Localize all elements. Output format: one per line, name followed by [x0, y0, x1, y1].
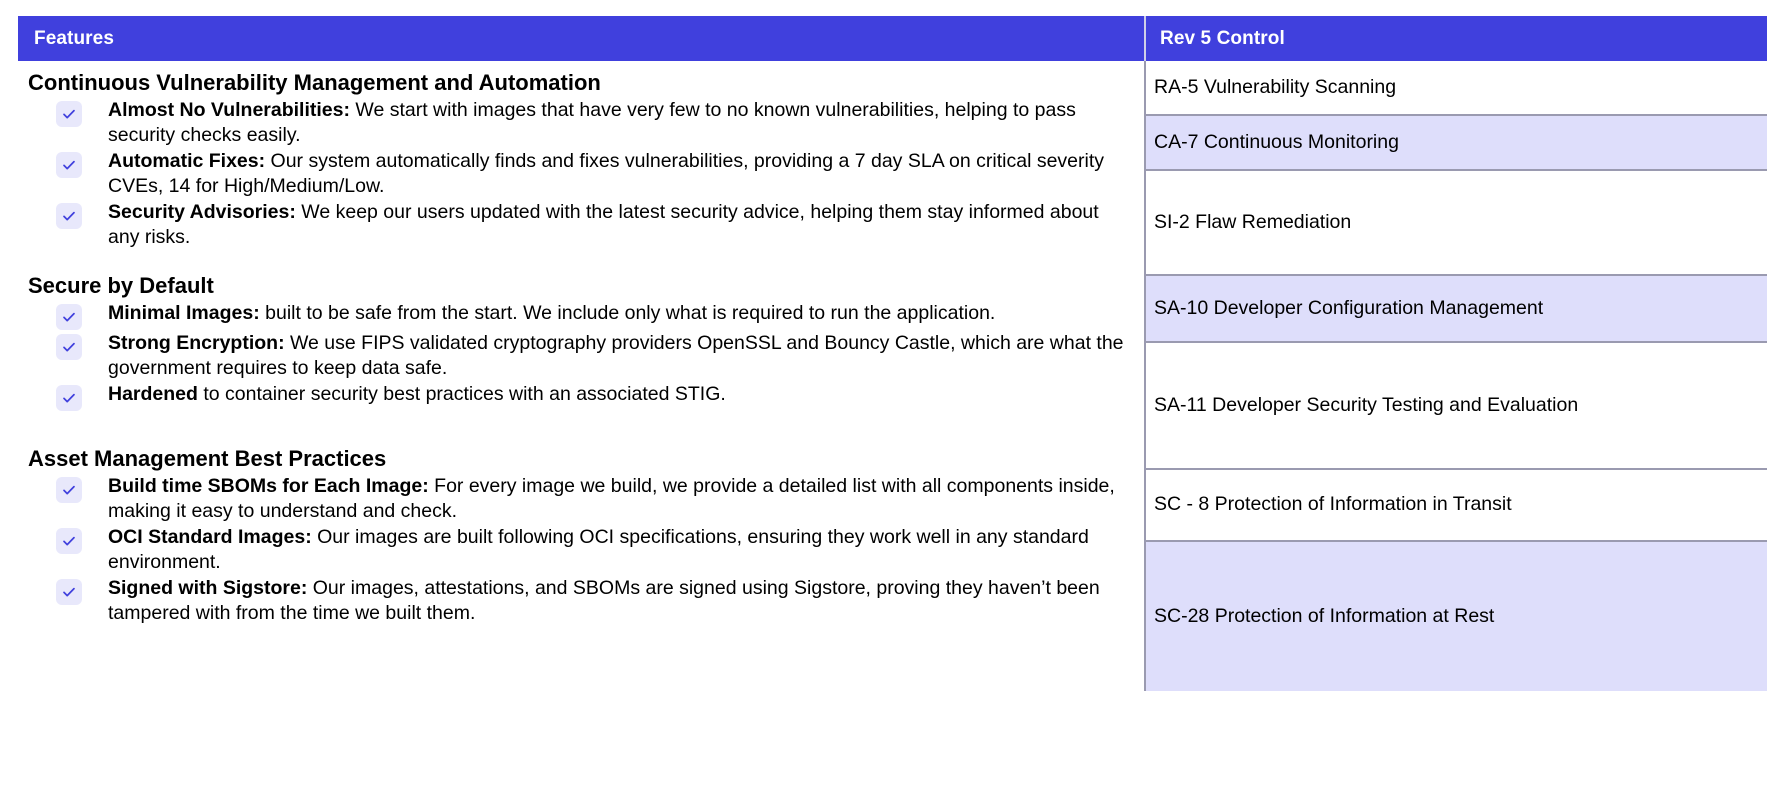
control-row: SC - 8 Protection of Information in Tran…	[1146, 470, 1767, 542]
column-header-features: Features	[18, 28, 1144, 50]
feature-bullet: Signed with Sigstore: Our images, attest…	[28, 576, 1134, 626]
feature-bullet: Security Advisories: We keep our users u…	[28, 200, 1134, 250]
control-label: SI-2 Flaw Remediation	[1154, 210, 1351, 235]
control-label: RA-5 Vulnerability Scanning	[1154, 75, 1396, 100]
check-icon	[56, 385, 82, 411]
check-icon	[56, 101, 82, 127]
check-icon	[56, 334, 82, 360]
column-header-rev5-control: Rev 5 Control	[1146, 28, 1767, 50]
feature-bullet-text: OCI Standard Images: Our images are buil…	[108, 525, 1134, 575]
check-icon	[56, 152, 82, 178]
feature-bullet-text: Automatic Fixes: Our system automaticall…	[108, 149, 1134, 199]
feature-bullet-body: built to be safe from the start. We incl…	[260, 302, 996, 324]
feature-bullet-list: Minimal Images: built to be safe from th…	[28, 301, 1134, 411]
control-label: SA-11 Developer Security Testing and Eva…	[1154, 393, 1578, 418]
feature-bullet-lead: OCI Standard Images:	[108, 526, 312, 548]
feature-bullet-lead: Signed with Sigstore:	[108, 577, 307, 599]
check-icon	[56, 304, 82, 330]
check-icon	[56, 203, 82, 229]
control-label: CA-7 Continuous Monitoring	[1154, 130, 1399, 155]
feature-bullet-list: Build time SBOMs for Each Image: For eve…	[28, 474, 1134, 627]
feature-bullet: Minimal Images: built to be safe from th…	[28, 301, 1134, 330]
control-row: SC-28 Protection of Information at Rest	[1146, 542, 1767, 691]
control-row: SA-11 Developer Security Testing and Eva…	[1146, 343, 1767, 470]
feature-bullet-text: Build time SBOMs for Each Image: For eve…	[108, 474, 1134, 524]
check-icon	[56, 477, 82, 503]
feature-bullet-text: Signed with Sigstore: Our images, attest…	[108, 576, 1134, 626]
control-row: RA-5 Vulnerability Scanning	[1146, 61, 1767, 116]
section-title: Secure by Default	[28, 272, 1134, 300]
feature-bullet-lead: Security Advisories:	[108, 201, 296, 223]
control-label: SC-28 Protection of Information at Rest	[1154, 604, 1494, 629]
feature-bullet: OCI Standard Images: Our images are buil…	[28, 525, 1134, 575]
feature-section: Continuous Vulnerability Management and …	[28, 69, 1134, 250]
feature-bullet-text: Strong Encryption: We use FIPS validated…	[108, 331, 1134, 381]
section-title: Continuous Vulnerability Management and …	[28, 69, 1134, 97]
feature-bullet-lead: Minimal Images:	[108, 302, 260, 324]
table-header-row: Features Rev 5 Control	[18, 16, 1767, 61]
feature-bullet-list: Almost No Vulnerabilities: We start with…	[28, 98, 1134, 251]
features-control-table: Features Rev 5 Control Continuous Vulner…	[18, 16, 1767, 691]
feature-section: Secure by DefaultMinimal Images: built t…	[28, 272, 1134, 411]
feature-bullet-body: to container security best practices wit…	[198, 383, 726, 405]
comparison-table-page: Features Rev 5 Control Continuous Vulner…	[0, 0, 1785, 791]
feature-bullet-text: Almost No Vulnerabilities: We start with…	[108, 98, 1134, 148]
feature-bullet: Strong Encryption: We use FIPS validated…	[28, 331, 1134, 381]
control-label: SA-10 Developer Configuration Management	[1154, 296, 1543, 321]
feature-bullet: Build time SBOMs for Each Image: For eve…	[28, 474, 1134, 524]
features-cell: Continuous Vulnerability Management and …	[18, 61, 1144, 691]
feature-bullet-text: Minimal Images: built to be safe from th…	[108, 301, 1134, 326]
feature-bullet: Hardened to container security best prac…	[28, 382, 1134, 411]
feature-bullet-text: Hardened to container security best prac…	[108, 382, 1134, 407]
feature-bullet-lead: Build time SBOMs for Each Image:	[108, 475, 429, 497]
table-body: Continuous Vulnerability Management and …	[18, 61, 1767, 691]
section-title: Asset Management Best Practices	[28, 445, 1134, 473]
control-label: SC - 8 Protection of Information in Tran…	[1154, 492, 1512, 517]
feature-bullet-text: Security Advisories: We keep our users u…	[108, 200, 1134, 250]
feature-bullet: Automatic Fixes: Our system automaticall…	[28, 149, 1134, 199]
feature-bullet-lead: Almost No Vulnerabilities:	[108, 99, 350, 121]
rev5-control-cell: RA-5 Vulnerability ScanningCA-7 Continuo…	[1146, 61, 1767, 691]
feature-bullet: Almost No Vulnerabilities: We start with…	[28, 98, 1134, 148]
control-row: SI-2 Flaw Remediation	[1146, 171, 1767, 276]
feature-bullet-lead: Hardened	[108, 383, 198, 405]
feature-bullet-lead: Strong Encryption:	[108, 332, 285, 354]
control-row: SA-10 Developer Configuration Management	[1146, 276, 1767, 343]
feature-section: Asset Management Best PracticesBuild tim…	[28, 445, 1134, 626]
check-icon	[56, 528, 82, 554]
control-row: CA-7 Continuous Monitoring	[1146, 116, 1767, 171]
feature-bullet-lead: Automatic Fixes:	[108, 150, 265, 172]
check-icon	[56, 579, 82, 605]
